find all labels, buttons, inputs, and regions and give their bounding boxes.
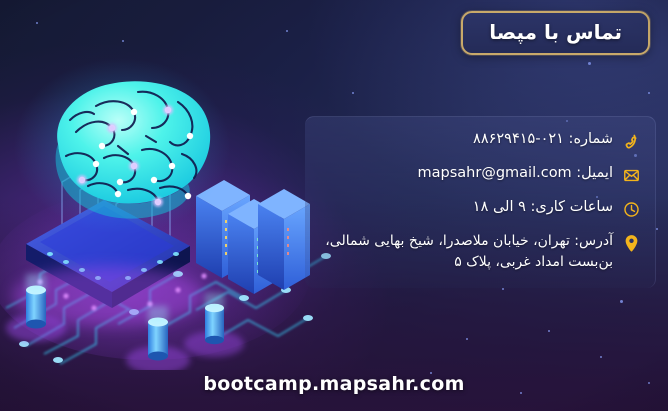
contact-info-panel: شماره: ۰۲۱-۸۸۶۲۹۴۱۵ ایمیل: mapsahr@gmail… — [305, 116, 656, 288]
contact-title-badge: تماس با مپصا — [461, 11, 650, 55]
contact-banner: تماس با مپصا شماره: ۰۲۱-۸۸۶۲۹۴۱۵ ایمیل: … — [0, 0, 668, 411]
contact-row-email[interactable]: ایمیل: mapsahr@gmail.com — [311, 163, 641, 186]
contact-row-address[interactable]: آدرس: تهران، خیابان ملاصدرا، شیخ بهایی ش… — [311, 231, 641, 274]
contact-row-hours[interactable]: ساعات کاری: ۹ الی ۱۸ — [311, 197, 641, 220]
contact-email-text: ایمیل: mapsahr@gmail.com — [311, 163, 613, 185]
map-pin-icon — [622, 232, 641, 254]
envelope-icon — [622, 164, 641, 186]
contact-phone-text: شماره: ۰۲۱-۸۸۶۲۹۴۱۵ — [311, 129, 613, 151]
clock-icon — [622, 198, 641, 220]
contact-hours-text: ساعات کاری: ۹ الی ۱۸ — [311, 197, 613, 219]
footer-website-url[interactable]: bootcamp.mapsahr.com — [0, 373, 668, 395]
contact-row-phone[interactable]: شماره: ۰۲۱-۸۸۶۲۹۴۱۵ — [311, 129, 641, 152]
ai-brain-circuit-illustration — [0, 58, 352, 370]
page-title: تماس با مپصا — [489, 20, 622, 44]
contact-address-text: آدرس: تهران، خیابان ملاصدرا، شیخ بهایی ش… — [311, 231, 613, 274]
phone-icon — [622, 130, 641, 152]
